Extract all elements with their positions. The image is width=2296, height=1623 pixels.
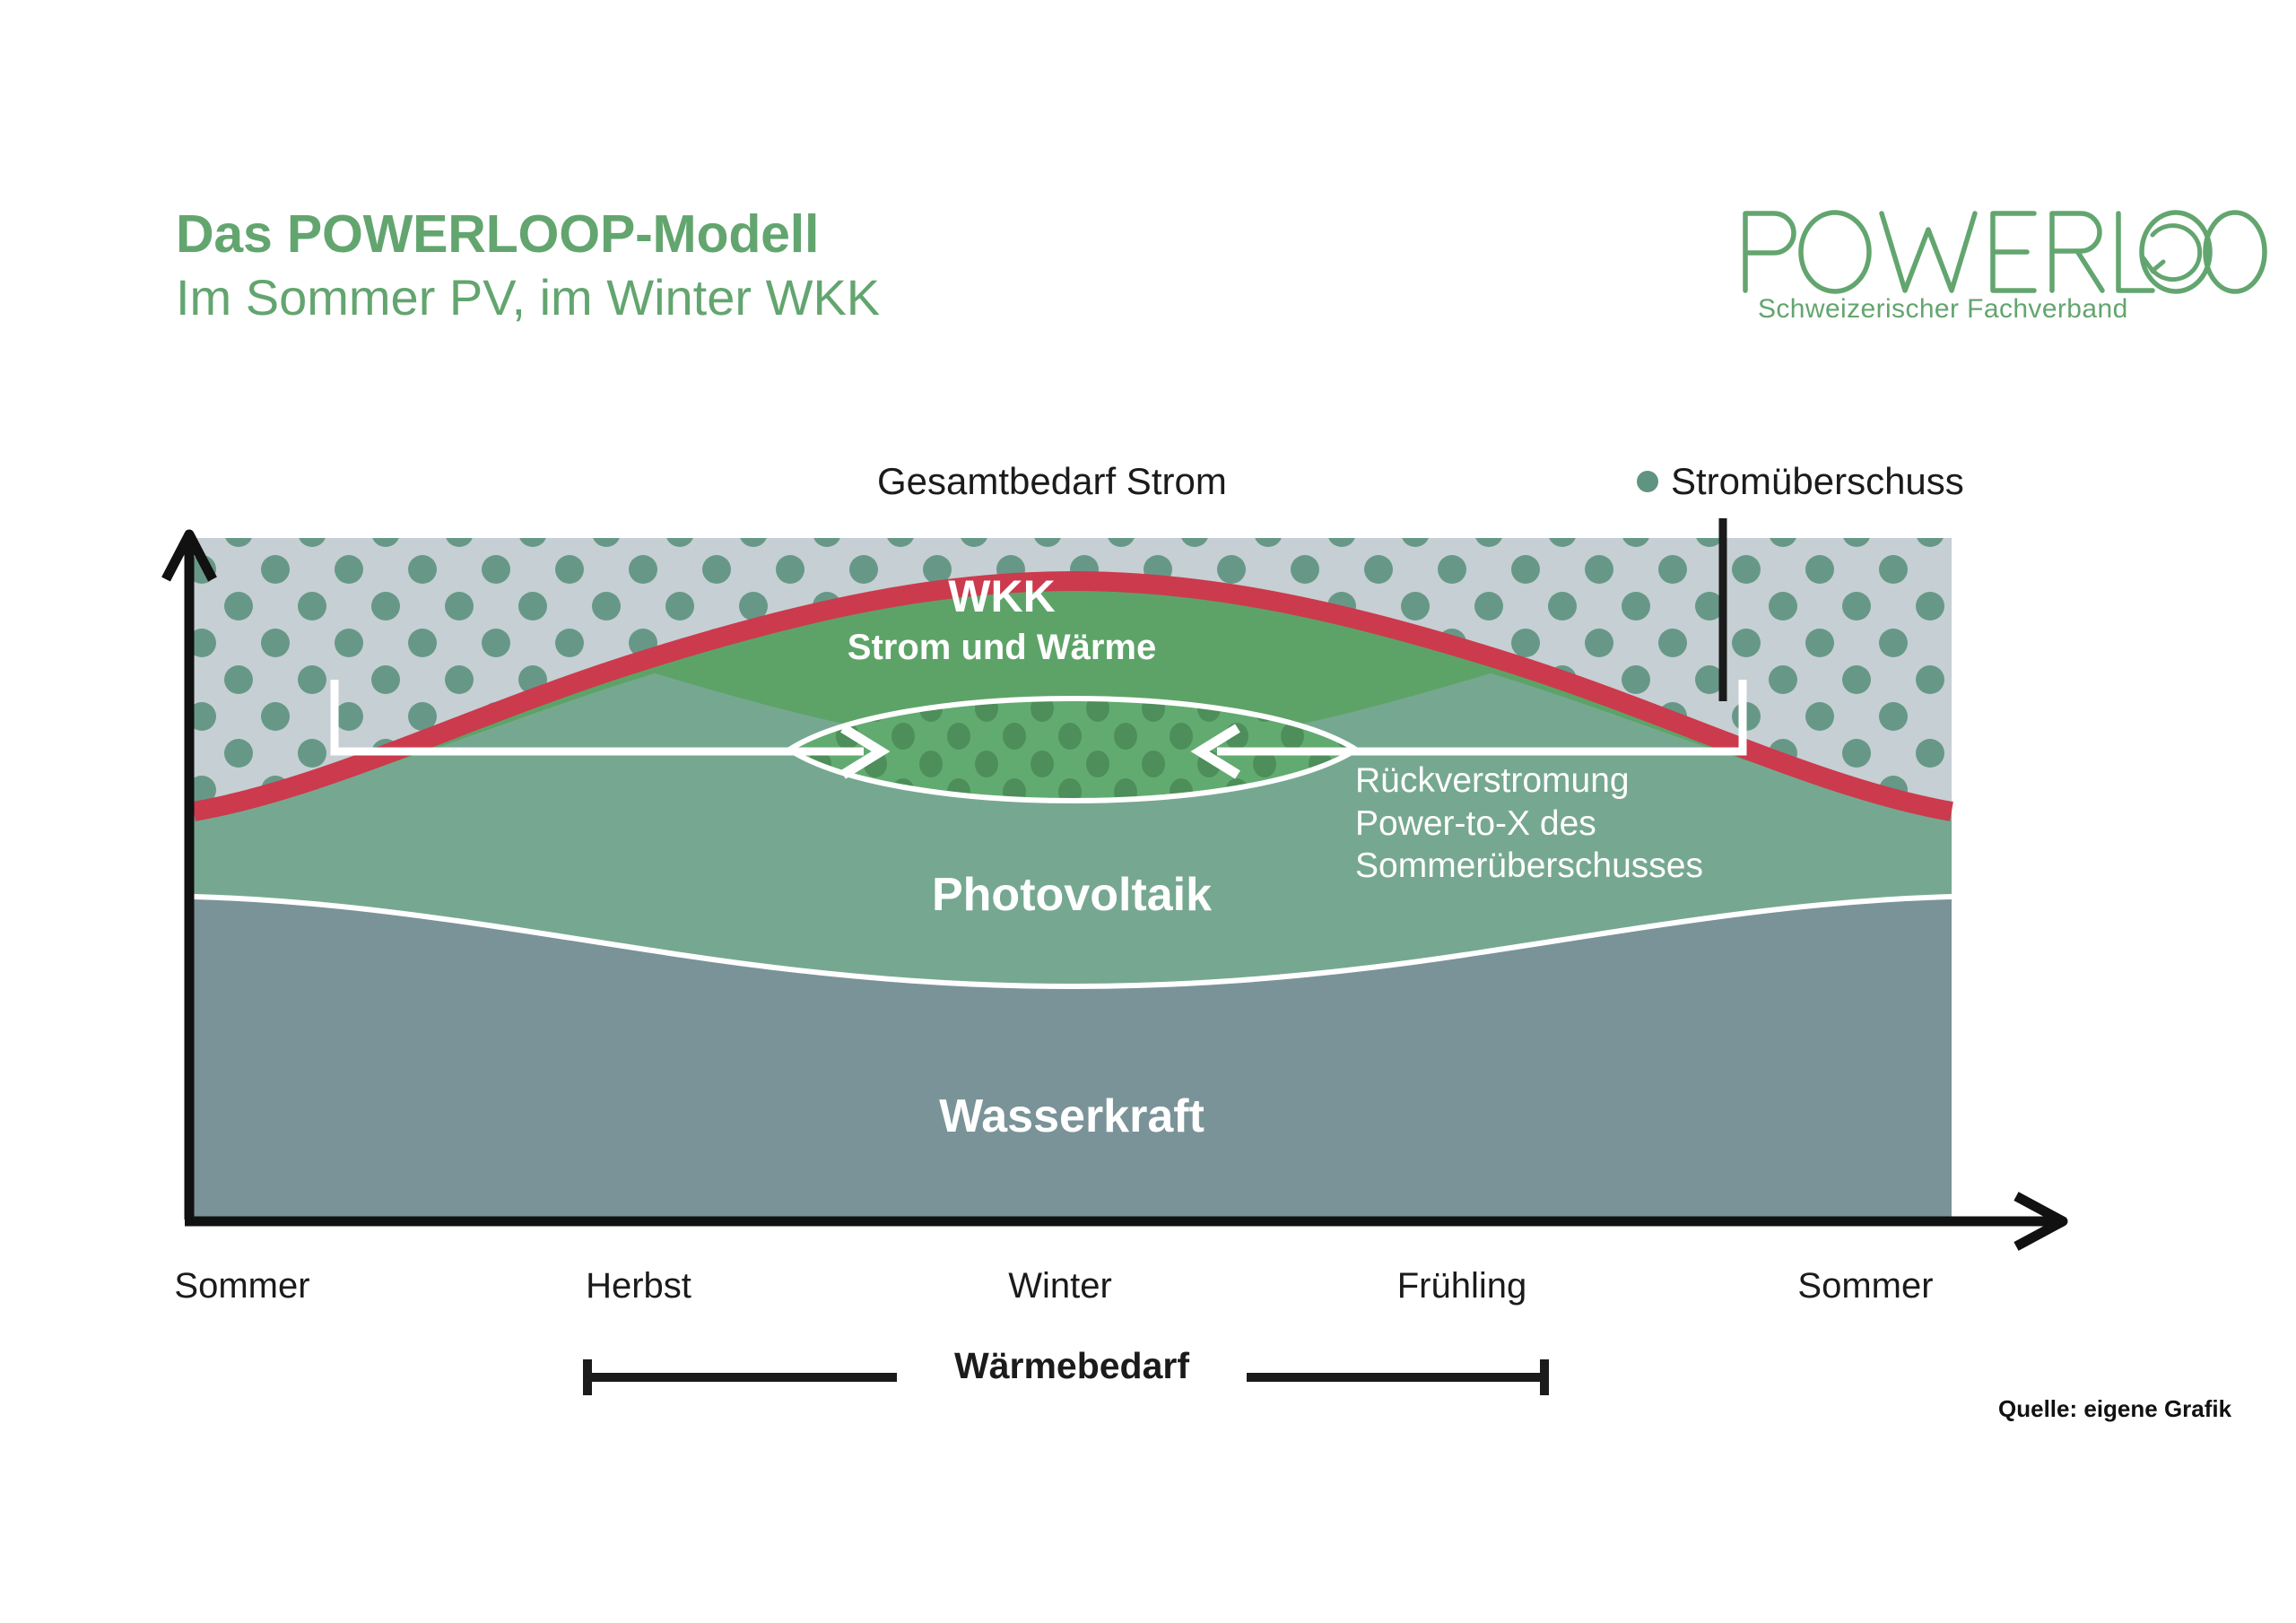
- axis-label-fruehling: Frühling: [1397, 1266, 1527, 1306]
- rueck-line-2: Power-to-X des: [1355, 803, 1703, 846]
- label-wkk-subtitle: Strom und Wärme: [848, 629, 1156, 665]
- label-rueckverstromung: Rückverstromung Power-to-X des Sommerübe…: [1355, 759, 1703, 888]
- label-wkk-title: WKK: [848, 574, 1156, 619]
- legend-total-demand: Gesamtbedarf Strom: [877, 460, 1227, 503]
- rueck-line-3: Sommerüberschusses: [1355, 845, 1703, 888]
- label-wkk: WKK Strom und Wärme: [848, 574, 1156, 665]
- axis-label-sommer-left: Sommer: [174, 1266, 309, 1306]
- label-photovoltaik: Photovoltaik: [932, 868, 1212, 922]
- legend-surplus: Stromüberschuss: [1637, 460, 1964, 503]
- legend-surplus-label: Stromüberschuss: [1671, 460, 1964, 502]
- source-credit: Quelle: eigene Grafik: [1998, 1395, 2231, 1423]
- axis-label-winter: Winter: [1008, 1266, 1112, 1306]
- rueck-line-1: Rückverstromung: [1355, 759, 1703, 803]
- label-waermebedarf: Wärmebedarf: [954, 1345, 1189, 1387]
- surplus-dot-icon: [1637, 471, 1658, 492]
- label-wasserkraft: Wasserkraft: [939, 1089, 1205, 1143]
- slide-canvas: Das POWERLOOP-Modell Im Sommer PV, im Wi…: [0, 0, 2296, 1623]
- axis-label-herbst: Herbst: [586, 1266, 691, 1306]
- axis-label-sommer-right: Sommer: [1797, 1266, 1933, 1306]
